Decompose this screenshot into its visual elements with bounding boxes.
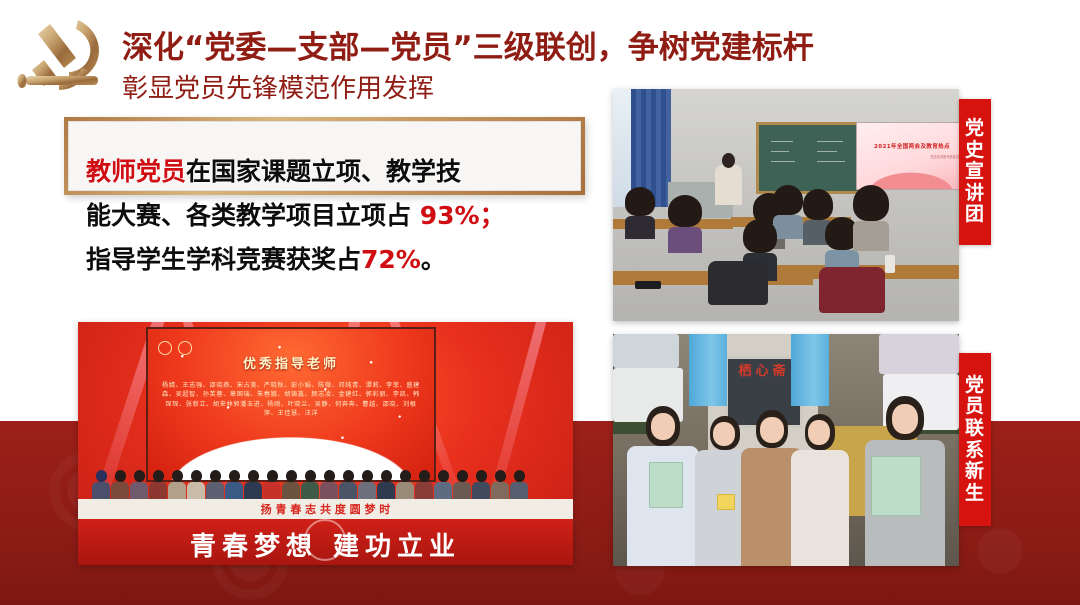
projector-subtitle: 党史宣讲团专题宣讲 [857,154,959,159]
dorm-notebook [649,462,683,508]
award-screen-names: 杨婧、王志强、邵晓燕、宋占美、严晓秋、彭小娟、陈微、邓纯青、谭莉、李菲、盛建森、… [162,381,420,419]
classroom-cup [885,255,895,273]
vlabel-char: 党 [965,375,985,397]
award-led-screen: 优秀指导老师 杨婧、王志强、邵晓燕、宋占美、严晓秋、彭小娟、陈微、邓纯青、谭莉、… [146,327,436,482]
projector-title: 2021年全国两会及教育热点 [861,142,959,150]
vlabel-char: 员 [965,396,985,418]
classroom-backpack [708,261,768,305]
dorm-bedding [613,334,679,368]
dorm-bedding [879,334,959,374]
dorm-curtain-right [791,334,829,406]
photo-award-ceremony: 优秀指导老师 杨婧、王志强、邵晓燕、宋占美、严晓秋、彭小娟、陈微、邓纯青、谭莉、… [78,322,573,565]
page-title: 深化“党委—支部—党员”三级联创，争树党建标杆 [122,22,814,67]
vlabel-char: 联 [965,418,985,440]
stat-line-2-post: ； [480,201,505,230]
stat-line-1-rest: 在国家课题立项、教学技 [186,157,461,186]
classroom-phone [635,281,661,289]
dorm-student [791,414,849,566]
vlabel-char: 宣 [965,161,985,183]
vlabel-char: 史 [965,140,985,162]
award-stage-banner-top: 扬 青 春 志 共 度 圆 梦 时 [78,499,573,519]
classroom-projector-screen: 2021年全国两会及教育热点 党史宣讲团专题宣讲 [856,122,959,190]
vlabel-char: 党 [965,118,985,140]
stat-line-3: 指导学生学科竞赛获奖占72%。 [86,238,566,282]
dorm-notebook [871,456,921,516]
vertical-label-party-history-team[interactable]: 党 史 宣 讲 团 [959,99,991,245]
stat-value-student-award: 72% [361,245,421,274]
stat-line-2: 能大赛、各类教学项目立项占 93%； [86,194,566,238]
stat-value-project-approval: 93% [420,201,480,230]
classroom-student [773,185,803,239]
classroom-student [668,195,702,253]
vlabel-char: 团 [965,204,985,226]
classroom-speaker-body [715,165,742,205]
award-screen-title: 优秀指导老师 [148,353,434,372]
dorm-notebook-small [717,494,735,510]
stat-line-2-pre: 能大赛、各类教学项目立项占 [86,201,420,230]
classroom-student [625,187,655,239]
classroom-student [853,185,889,251]
stat-text-block: 教师党员在国家课题立项、教学技 能大赛、各类教学项目立项占 93%； 指导学生学… [86,150,566,282]
classroom-blackboard [756,122,861,194]
stat-line-1: 教师党员在国家课题立项、教学技 [86,150,566,194]
vlabel-char: 新 [965,461,985,483]
vlabel-char: 讲 [965,183,985,205]
vertical-label-party-member-freshmen[interactable]: 党 员 联 系 新 生 [959,353,991,526]
page-subtitle: 彰显党员先锋模范作用发挥 [122,68,434,105]
stat-highlight-teacher-party-member: 教师党员 [86,157,186,186]
classroom-backpack [819,267,885,313]
photo-classroom-lecture: 2021年全国两会及教育热点 党史宣讲团专题宣讲 [613,89,959,321]
party-emblem-icon [14,12,118,112]
photo-dorm-visit: 栖心斋 [613,334,959,566]
award-stage-banner: 青春梦想 建功立业 [78,519,573,565]
stat-line-3-pre: 指导学生学科竞赛获奖占 [86,245,361,274]
vlabel-char: 系 [965,440,985,462]
award-stage-banner-text: 青春梦想 建功立业 [78,526,573,563]
vlabel-char: 生 [965,483,985,505]
dorm-curtain-left [689,334,727,406]
classroom-speaker-head [722,153,735,168]
stat-line-3-post: 。 [421,245,446,274]
